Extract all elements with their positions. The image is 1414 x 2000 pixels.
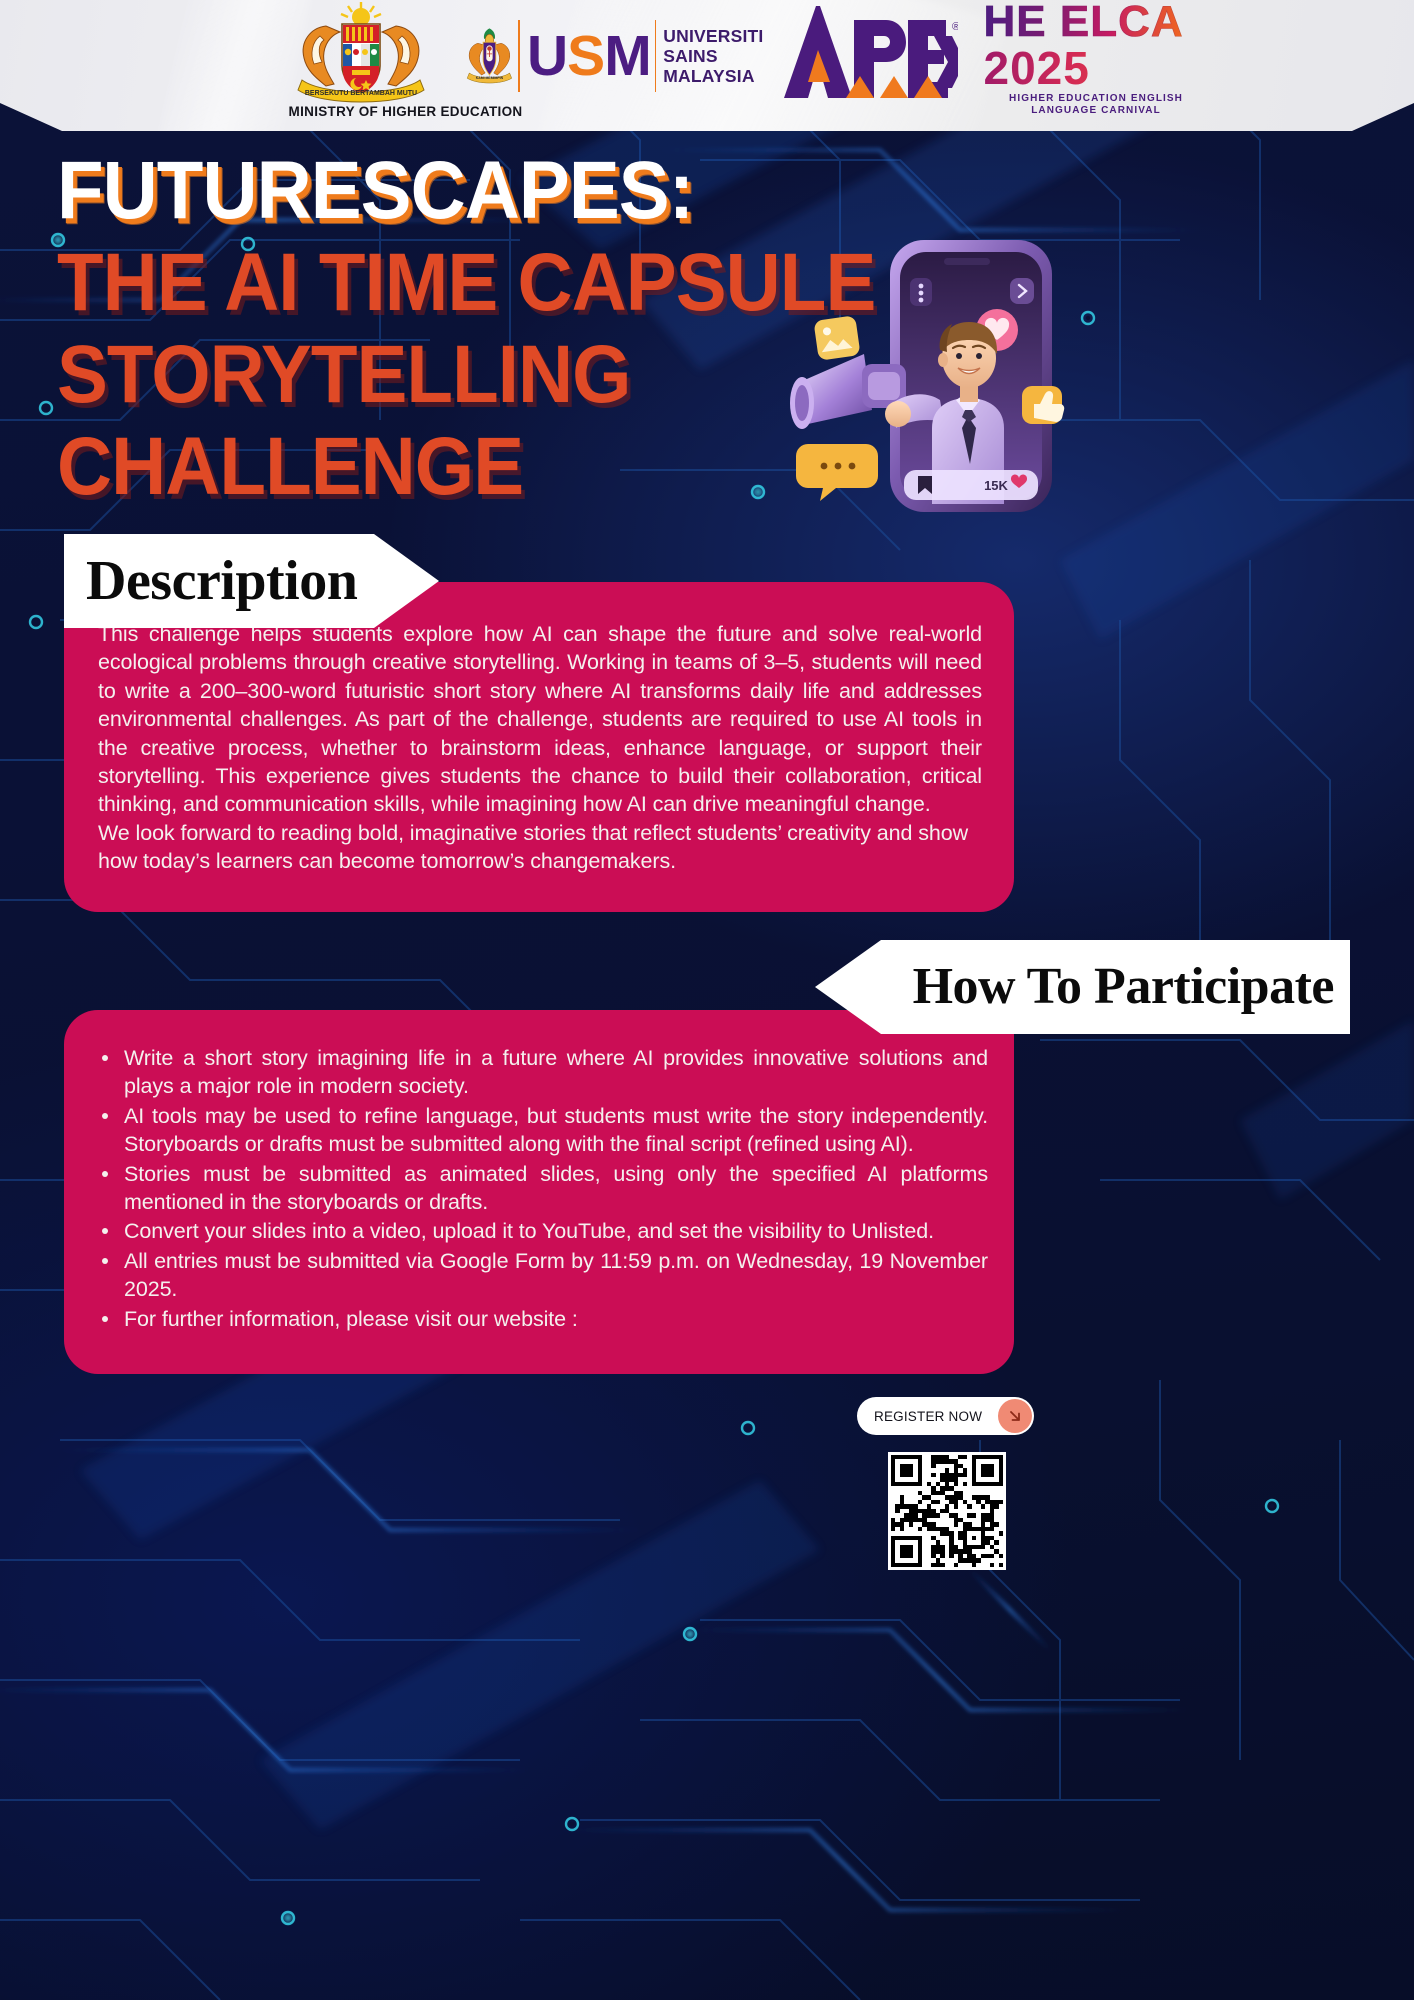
svg-text:®: ® (952, 21, 958, 33)
title-line-3: STORYTELLING (57, 329, 875, 421)
title-line-1: FUTURESCAPES: (57, 145, 875, 237)
bullet-dot-icon (102, 1113, 108, 1119)
list-item: Write a short story imagining life in a … (82, 1044, 988, 1101)
list-item: AI tools may be used to refine language,… (82, 1102, 988, 1159)
title-line-4: CHALLENGE (57, 421, 875, 513)
malaysia-coat-of-arms-logo: BERSEKUTU BERTAMBAH MUTU MINISTRY OF HIG… (286, 0, 436, 128)
elca-subtitle-2: LANGUAGE CARNIVAL (984, 105, 1209, 117)
list-item-text: All entries must be submitted via Google… (124, 1249, 988, 1301)
elca-line-1: HE ELCA (984, 0, 1209, 44)
list-item-text: Convert your slides into a video, upload… (124, 1219, 934, 1243)
apex-logo-icon: ® (782, 0, 958, 104)
list-item: Stories must be submitted as animated sl… (82, 1160, 988, 1217)
logo-row: BERSEKUTU BERTAMBAH MUTU MINISTRY OF HIG… (0, 0, 1414, 131)
usm-wordmark: UNIVERSITI SAINS MALAYSIA (663, 26, 763, 86)
usm-divider (518, 20, 520, 92)
description-heading: Description (86, 551, 357, 611)
usm-monogram: USM (527, 28, 651, 84)
description-banner: Description (64, 534, 439, 628)
usm-divider-2 (655, 20, 657, 92)
how-to-participate-heading: How To Participate (913, 959, 1334, 1015)
bullet-dot-icon (102, 1228, 108, 1234)
register-now-label: REGISTER NOW (874, 1409, 982, 1424)
bullet-dot-icon (102, 1055, 108, 1061)
description-paragraph-1: This challenge helps students explore ho… (98, 620, 982, 819)
description-paragraph-2: We look forward to reading bold, imagina… (98, 819, 982, 876)
qr-code-icon[interactable] (888, 1452, 1006, 1570)
thumbs-up-badge-icon (1022, 386, 1064, 424)
list-item-text: Write a short story imagining life in a … (124, 1046, 988, 1098)
elca-subtitle-1: HIGHER EDUCATION ENGLISH (984, 93, 1209, 105)
bullet-dot-icon (102, 1258, 108, 1264)
screen-bottom-bar: 15K (904, 470, 1038, 500)
list-item-text: AI tools may be used to refine language,… (124, 1104, 988, 1156)
poster-canvas: BERSEKUTU BERTAMBAH MUTU MINISTRY OF HIG… (0, 0, 1414, 2000)
arrow-down-right-icon (998, 1399, 1032, 1433)
list-item: Convert your slides into a video, upload… (82, 1217, 988, 1245)
list-item-text: For further information, please visit ou… (124, 1307, 578, 1331)
description-card: This challenge helps students explore ho… (64, 582, 1014, 912)
participation-steps-list: Write a short story imagining life in a … (82, 1044, 988, 1333)
qr-code-grid (891, 1455, 1003, 1567)
title-line-2: THE AI TIME CAPSULE (57, 237, 875, 329)
svg-text:15K: 15K (984, 478, 1008, 493)
svg-text:BERSEKUTU BERTAMBAH MUTU: BERSEKUTU BERTAMBAH MUTU (304, 90, 416, 97)
elca-line-2: 2025 (984, 46, 1209, 90)
bullet-dot-icon (102, 1171, 108, 1177)
he-elca-2025-logo: HE ELCA 2025 HIGHER EDUCATION ENGLISH LA… (984, 0, 1209, 120)
svg-text:KAMI MEMIMPIN: KAMI MEMIMPIN (475, 76, 503, 80)
register-now-button[interactable]: REGISTER NOW (857, 1397, 1034, 1435)
list-item: For further information, please visit ou… (82, 1305, 988, 1333)
chat-bubble-badge-icon (796, 444, 878, 501)
apex-logo: ® (782, 0, 962, 104)
list-item: All entries must be submitted via Google… (82, 1247, 988, 1304)
bullet-dot-icon (102, 1316, 108, 1322)
image-badge-icon (813, 315, 860, 360)
phone-megaphone-mascot-illustration: 15K (772, 232, 1072, 552)
list-item-text: Stories must be submitted as animated sl… (124, 1162, 988, 1214)
how-to-participate-banner: How To Participate (815, 940, 1350, 1034)
usm-crest-icon: KAMI MEMIMPIN (464, 0, 515, 112)
how-to-participate-card: Write a short story imagining life in a … (64, 1010, 1014, 1374)
usm-logo: KAMI MEMIMPIN USM UNIVERSITI SAINS MALAY… (464, 0, 764, 112)
